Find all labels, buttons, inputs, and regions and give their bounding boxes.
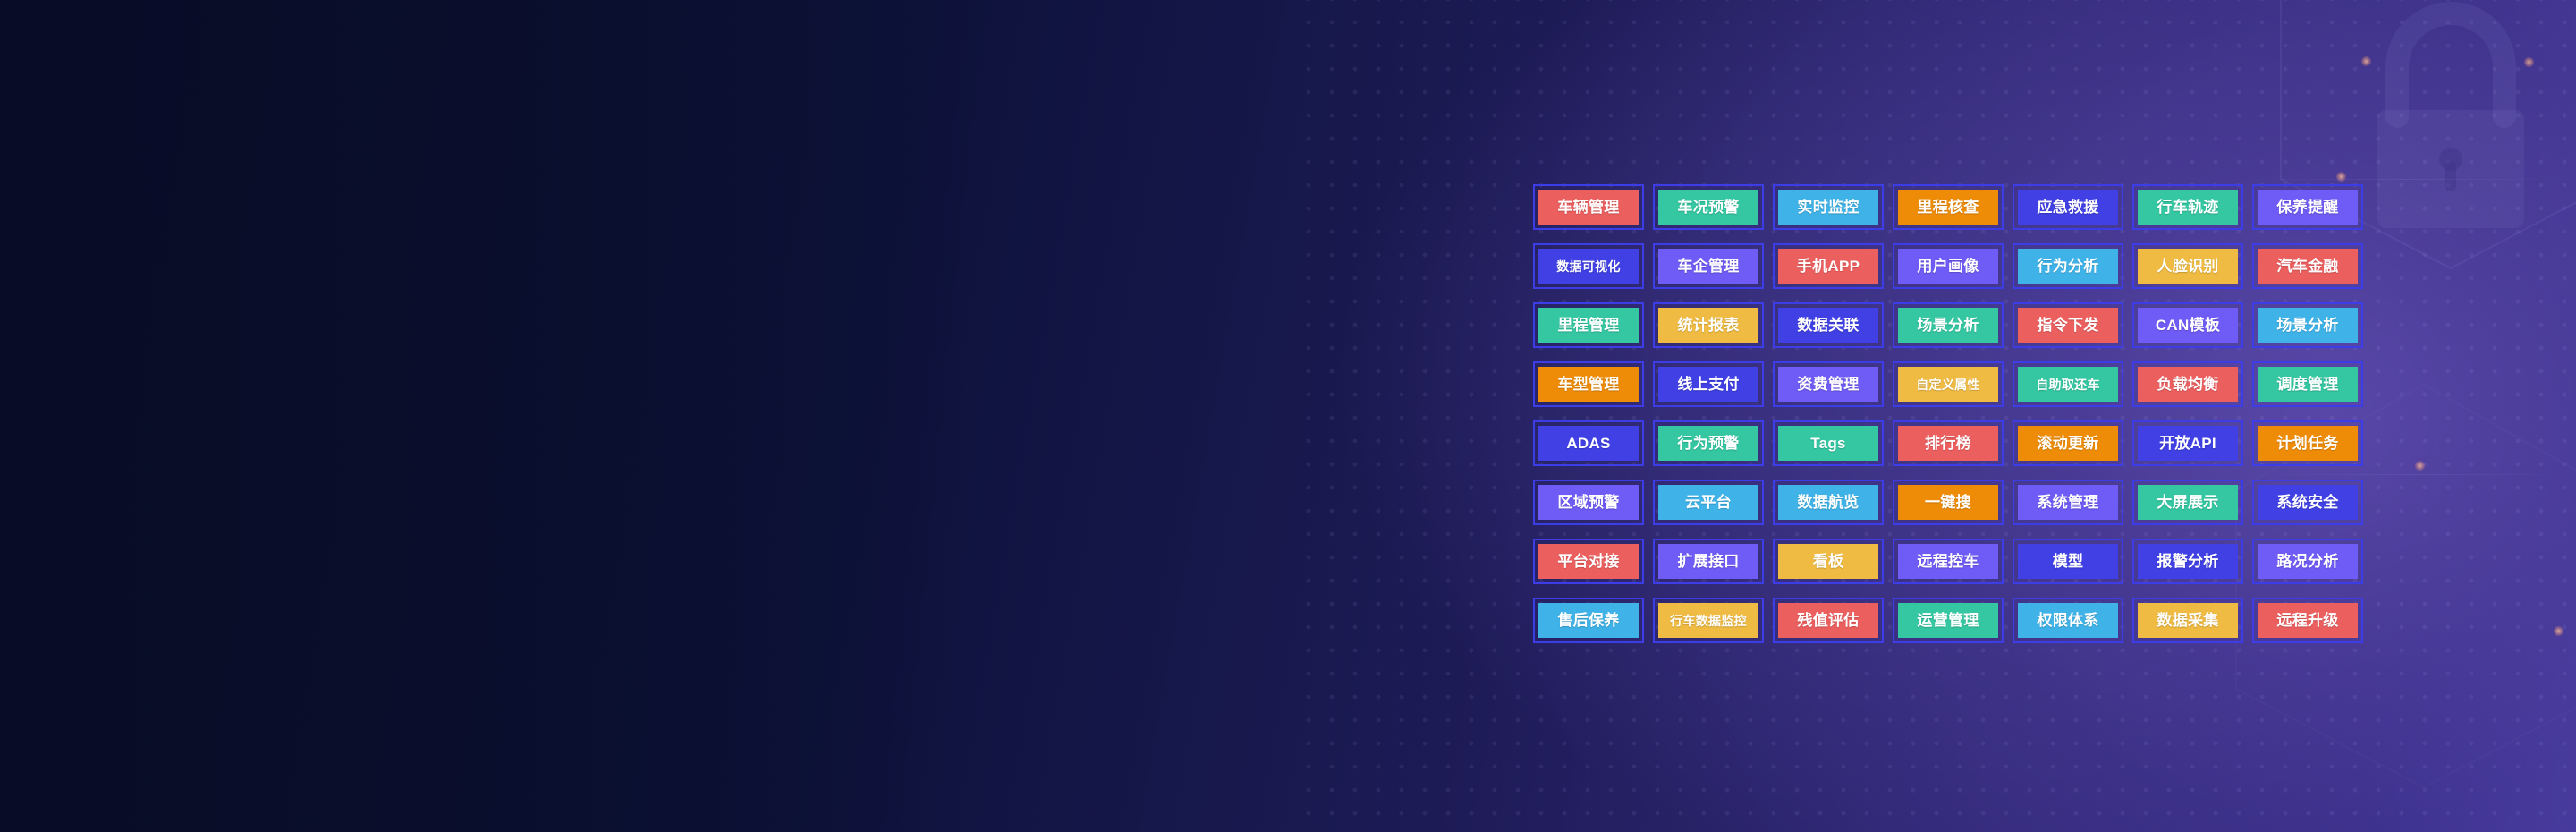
- tag-item[interactable]: 一键搜: [1893, 480, 2004, 525]
- tag-item[interactable]: 区域预警: [1533, 480, 1644, 525]
- tag-item[interactable]: CAN模板: [2132, 302, 2243, 348]
- tag-label: 调度管理: [2258, 367, 2358, 402]
- tag-label: 平台对接: [1538, 544, 1639, 579]
- tag-label: 车况预警: [1658, 190, 1758, 225]
- tag-cloud: 车辆管理车况预警实时监控里程核查应急救援行车轨迹保养提醒数据可视化车企管理手机A…: [1533, 184, 2374, 643]
- tag-item[interactable]: 路况分析: [2252, 539, 2363, 584]
- tag-item[interactable]: 远程升级: [2252, 598, 2363, 643]
- tag-item[interactable]: 行为分析: [2012, 243, 2123, 289]
- tag-item[interactable]: 系统管理: [2012, 480, 2123, 525]
- node-dot: [2554, 626, 2563, 636]
- tag-item[interactable]: 售后保养: [1533, 598, 1644, 643]
- tag-row: 车型管理线上支付资费管理自定义属性自助取还车负载均衡调度管理: [1533, 361, 2374, 407]
- node-dot: [2524, 57, 2534, 67]
- tag-label: 用户画像: [1898, 249, 1998, 284]
- tag-label: 线上支付: [1658, 367, 1758, 402]
- tag-label: 路况分析: [2258, 544, 2358, 579]
- tag-label: ADAS: [1538, 426, 1639, 461]
- tag-item[interactable]: 保养提醒: [2252, 184, 2363, 230]
- tag-item[interactable]: 看板: [1773, 539, 1884, 584]
- tag-label: 里程管理: [1538, 308, 1639, 343]
- tag-item[interactable]: 行车数据监控: [1653, 598, 1764, 643]
- tag-item[interactable]: 里程核查: [1893, 184, 2004, 230]
- tag-item[interactable]: 负载均衡: [2132, 361, 2243, 407]
- tag-label: 行为分析: [2018, 249, 2118, 284]
- tag-item[interactable]: 开放API: [2132, 420, 2243, 466]
- tag-row: 车辆管理车况预警实时监控里程核查应急救援行车轨迹保养提醒: [1533, 184, 2374, 230]
- tag-label: 里程核查: [1898, 190, 1998, 225]
- tag-item[interactable]: 权限体系: [2012, 598, 2123, 643]
- tag-item[interactable]: 用户画像: [1893, 243, 2004, 289]
- tag-item[interactable]: 车辆管理: [1533, 184, 1644, 230]
- tag-item[interactable]: 统计报表: [1653, 302, 1764, 348]
- tag-item[interactable]: 场景分析: [2252, 302, 2363, 348]
- tag-item[interactable]: 手机APP: [1773, 243, 1884, 289]
- tag-label: 指令下发: [2018, 308, 2118, 343]
- tag-label: 一键搜: [1898, 485, 1998, 520]
- tag-label: 滚动更新: [2018, 426, 2118, 461]
- tag-label: 区域预警: [1538, 485, 1639, 520]
- node-dot: [2415, 461, 2425, 471]
- tag-item[interactable]: 滚动更新: [2012, 420, 2123, 466]
- node-dot: [2361, 56, 2371, 66]
- tag-item[interactable]: 指令下发: [2012, 302, 2123, 348]
- tag-label: 自助取还车: [2018, 367, 2118, 402]
- tag-label: 数据可视化: [1538, 249, 1639, 284]
- tag-item[interactable]: 数据采集: [2132, 598, 2243, 643]
- tag-row: 数据可视化车企管理手机APP用户画像行为分析人脸识别汽车金融: [1533, 243, 2374, 289]
- tag-row: 售后保养行车数据监控残值评估运营管理权限体系数据采集远程升级: [1533, 598, 2374, 643]
- tag-item[interactable]: 计划任务: [2252, 420, 2363, 466]
- tag-label: 手机APP: [1778, 249, 1878, 284]
- background-shade: [0, 0, 984, 832]
- tag-label: 数据航览: [1778, 485, 1878, 520]
- tag-item[interactable]: 报警分析: [2132, 539, 2243, 584]
- tag-item[interactable]: 人脸识别: [2132, 243, 2243, 289]
- tag-label: 系统管理: [2018, 485, 2118, 520]
- tag-label: 行车轨迹: [2138, 190, 2238, 225]
- tag-item[interactable]: 车企管理: [1653, 243, 1764, 289]
- tag-item[interactable]: ADAS: [1533, 420, 1644, 466]
- tag-label: 云平台: [1658, 485, 1758, 520]
- tag-item[interactable]: 模型: [2012, 539, 2123, 584]
- tag-item[interactable]: 资费管理: [1773, 361, 1884, 407]
- tag-item[interactable]: 应急救援: [2012, 184, 2123, 230]
- page-stage: 车辆管理车况预警实时监控里程核查应急救援行车轨迹保养提醒数据可视化车企管理手机A…: [0, 0, 2576, 832]
- tag-label: 排行榜: [1898, 426, 1998, 461]
- tag-label: 汽车金融: [2258, 249, 2358, 284]
- tag-label: 远程升级: [2258, 603, 2358, 638]
- tag-item[interactable]: 数据关联: [1773, 302, 1884, 348]
- tag-item[interactable]: 自定义属性: [1893, 361, 2004, 407]
- tag-label: 权限体系: [2018, 603, 2118, 638]
- tag-label: 运营管理: [1898, 603, 1998, 638]
- tag-label: 系统安全: [2258, 485, 2358, 520]
- tag-item[interactable]: 车型管理: [1533, 361, 1644, 407]
- tag-item[interactable]: 线上支付: [1653, 361, 1764, 407]
- tag-item[interactable]: 系统安全: [2252, 480, 2363, 525]
- tag-label: 车企管理: [1658, 249, 1758, 284]
- tag-item[interactable]: 汽车金融: [2252, 243, 2363, 289]
- tag-label: 远程控车: [1898, 544, 1998, 579]
- tag-item[interactable]: 调度管理: [2252, 361, 2363, 407]
- tag-row: ADAS行为预警Tags排行榜滚动更新开放API计划任务: [1533, 420, 2374, 466]
- tag-label: 应急救援: [2018, 190, 2118, 225]
- tag-label: 统计报表: [1658, 308, 1758, 343]
- tag-label: 行为预警: [1658, 426, 1758, 461]
- tag-row: 平台对接扩展接口看板远程控车模型报警分析路况分析: [1533, 539, 2374, 584]
- tag-item[interactable]: 车况预警: [1653, 184, 1764, 230]
- node-dot: [2336, 172, 2346, 182]
- tag-item[interactable]: 数据可视化: [1533, 243, 1644, 289]
- tag-item[interactable]: Tags: [1773, 420, 1884, 466]
- tag-item[interactable]: 残值评估: [1773, 598, 1884, 643]
- tag-item[interactable]: 自助取还车: [2012, 361, 2123, 407]
- tag-item[interactable]: 云平台: [1653, 480, 1764, 525]
- tag-label: 数据采集: [2138, 603, 2238, 638]
- tag-item[interactable]: 数据航览: [1773, 480, 1884, 525]
- tag-item[interactable]: 平台对接: [1533, 539, 1644, 584]
- tag-label: 车型管理: [1538, 367, 1639, 402]
- tag-item[interactable]: 运营管理: [1893, 598, 2004, 643]
- tag-label: 保养提醒: [2258, 190, 2358, 225]
- tag-label: Tags: [1778, 426, 1878, 461]
- tag-row: 区域预警云平台数据航览一键搜系统管理大屏展示系统安全: [1533, 480, 2374, 525]
- tag-item[interactable]: 排行榜: [1893, 420, 2004, 466]
- tag-label: 自定义属性: [1898, 367, 1998, 402]
- tag-label: 报警分析: [2138, 544, 2238, 579]
- tag-label: 场景分析: [1898, 308, 1998, 343]
- decor-line: [2236, 179, 2576, 180]
- tag-label: 资费管理: [1778, 367, 1878, 402]
- tag-label: 场景分析: [2258, 308, 2358, 343]
- tag-label: 看板: [1778, 544, 1878, 579]
- tag-item[interactable]: 大屏展示: [2132, 480, 2243, 525]
- tag-label: 模型: [2018, 544, 2118, 579]
- tag-item[interactable]: 行为预警: [1653, 420, 1764, 466]
- tag-item[interactable]: 场景分析: [1893, 302, 2004, 348]
- tag-label: 负载均衡: [2138, 367, 2238, 402]
- tag-label: 残值评估: [1778, 603, 1878, 638]
- tag-label: 人脸识别: [2138, 249, 2238, 284]
- tag-label: 车辆管理: [1538, 190, 1639, 225]
- tag-item[interactable]: 里程管理: [1533, 302, 1644, 348]
- tag-label: CAN模板: [2138, 308, 2238, 343]
- tag-label: 行车数据监控: [1658, 603, 1758, 638]
- tag-label: 数据关联: [1778, 308, 1878, 343]
- tag-item[interactable]: 实时监控: [1773, 184, 1884, 230]
- tag-label: 售后保养: [1538, 603, 1639, 638]
- tag-label: 开放API: [2138, 426, 2238, 461]
- tag-label: 大屏展示: [2138, 485, 2238, 520]
- tag-item[interactable]: 远程控车: [1893, 539, 2004, 584]
- tag-row: 里程管理统计报表数据关联场景分析指令下发CAN模板场景分析: [1533, 302, 2374, 348]
- tag-item[interactable]: 扩展接口: [1653, 539, 1764, 584]
- tag-item[interactable]: 行车轨迹: [2132, 184, 2243, 230]
- tag-label: 扩展接口: [1658, 544, 1758, 579]
- tag-label: 计划任务: [2258, 426, 2358, 461]
- tag-label: 实时监控: [1778, 190, 1878, 225]
